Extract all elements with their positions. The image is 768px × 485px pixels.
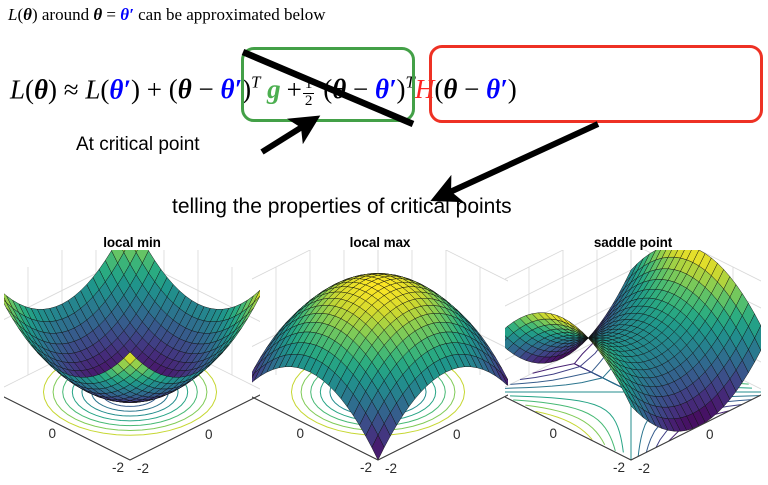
svg-text:-2: -2 [638, 461, 650, 476]
surface-canvas-local-min: 05-202-202 [4, 250, 260, 485]
svg-text:-2: -2 [613, 460, 625, 475]
plot-local-min: local min 05-202-202 [4, 232, 260, 485]
arrow-to-gradient-box [262, 127, 302, 152]
plot-title-local-min: local min [4, 235, 260, 250]
surface-canvas-saddle-point: -4-2024-202-202 [505, 250, 761, 485]
headline-text: L(θ) around θ = θ′ can be approximated b… [8, 3, 326, 27]
plot-saddle-point: saddle point -4-2024-202-202 [505, 232, 761, 485]
plot-local-max: local max -50-202-202 [252, 232, 508, 485]
caption-at-critical-point: At critical point [76, 134, 200, 156]
svg-text:0: 0 [205, 427, 213, 442]
plot-title-saddle-point: saddle point [505, 235, 761, 250]
svg-text:-2: -2 [360, 460, 372, 475]
svg-text:0: 0 [48, 426, 56, 441]
arrow-to-properties-caption [450, 124, 598, 192]
hessian-term: 12 (θ − θ′)TH(θ − θ′) [302, 74, 517, 104]
svg-text:0: 0 [706, 427, 714, 442]
svg-text:0: 0 [549, 426, 557, 441]
surface-plots-row: local min 05-202-202 local max -50-202-2… [0, 232, 768, 485]
plot-title-local-max: local max [252, 235, 508, 250]
svg-text:-2: -2 [137, 461, 149, 476]
surface-canvas-local-max: -50-202-202 [252, 250, 508, 485]
taylor-expansion-equation: L(θ) ≈ L(θ′) + (θ − θ′)T g+12 (θ − θ′)TH… [10, 52, 517, 120]
svg-text:-2: -2 [385, 461, 397, 476]
svg-text:0: 0 [296, 426, 304, 441]
svg-text:-2: -2 [112, 460, 124, 475]
caption-telling-properties: telling the properties of critical point… [172, 195, 512, 219]
slide-root: L(θ) around θ = θ′ can be approximated b… [0, 0, 768, 485]
gradient-term: (θ − θ′)T g [169, 74, 281, 104]
svg-text:0: 0 [453, 427, 461, 442]
